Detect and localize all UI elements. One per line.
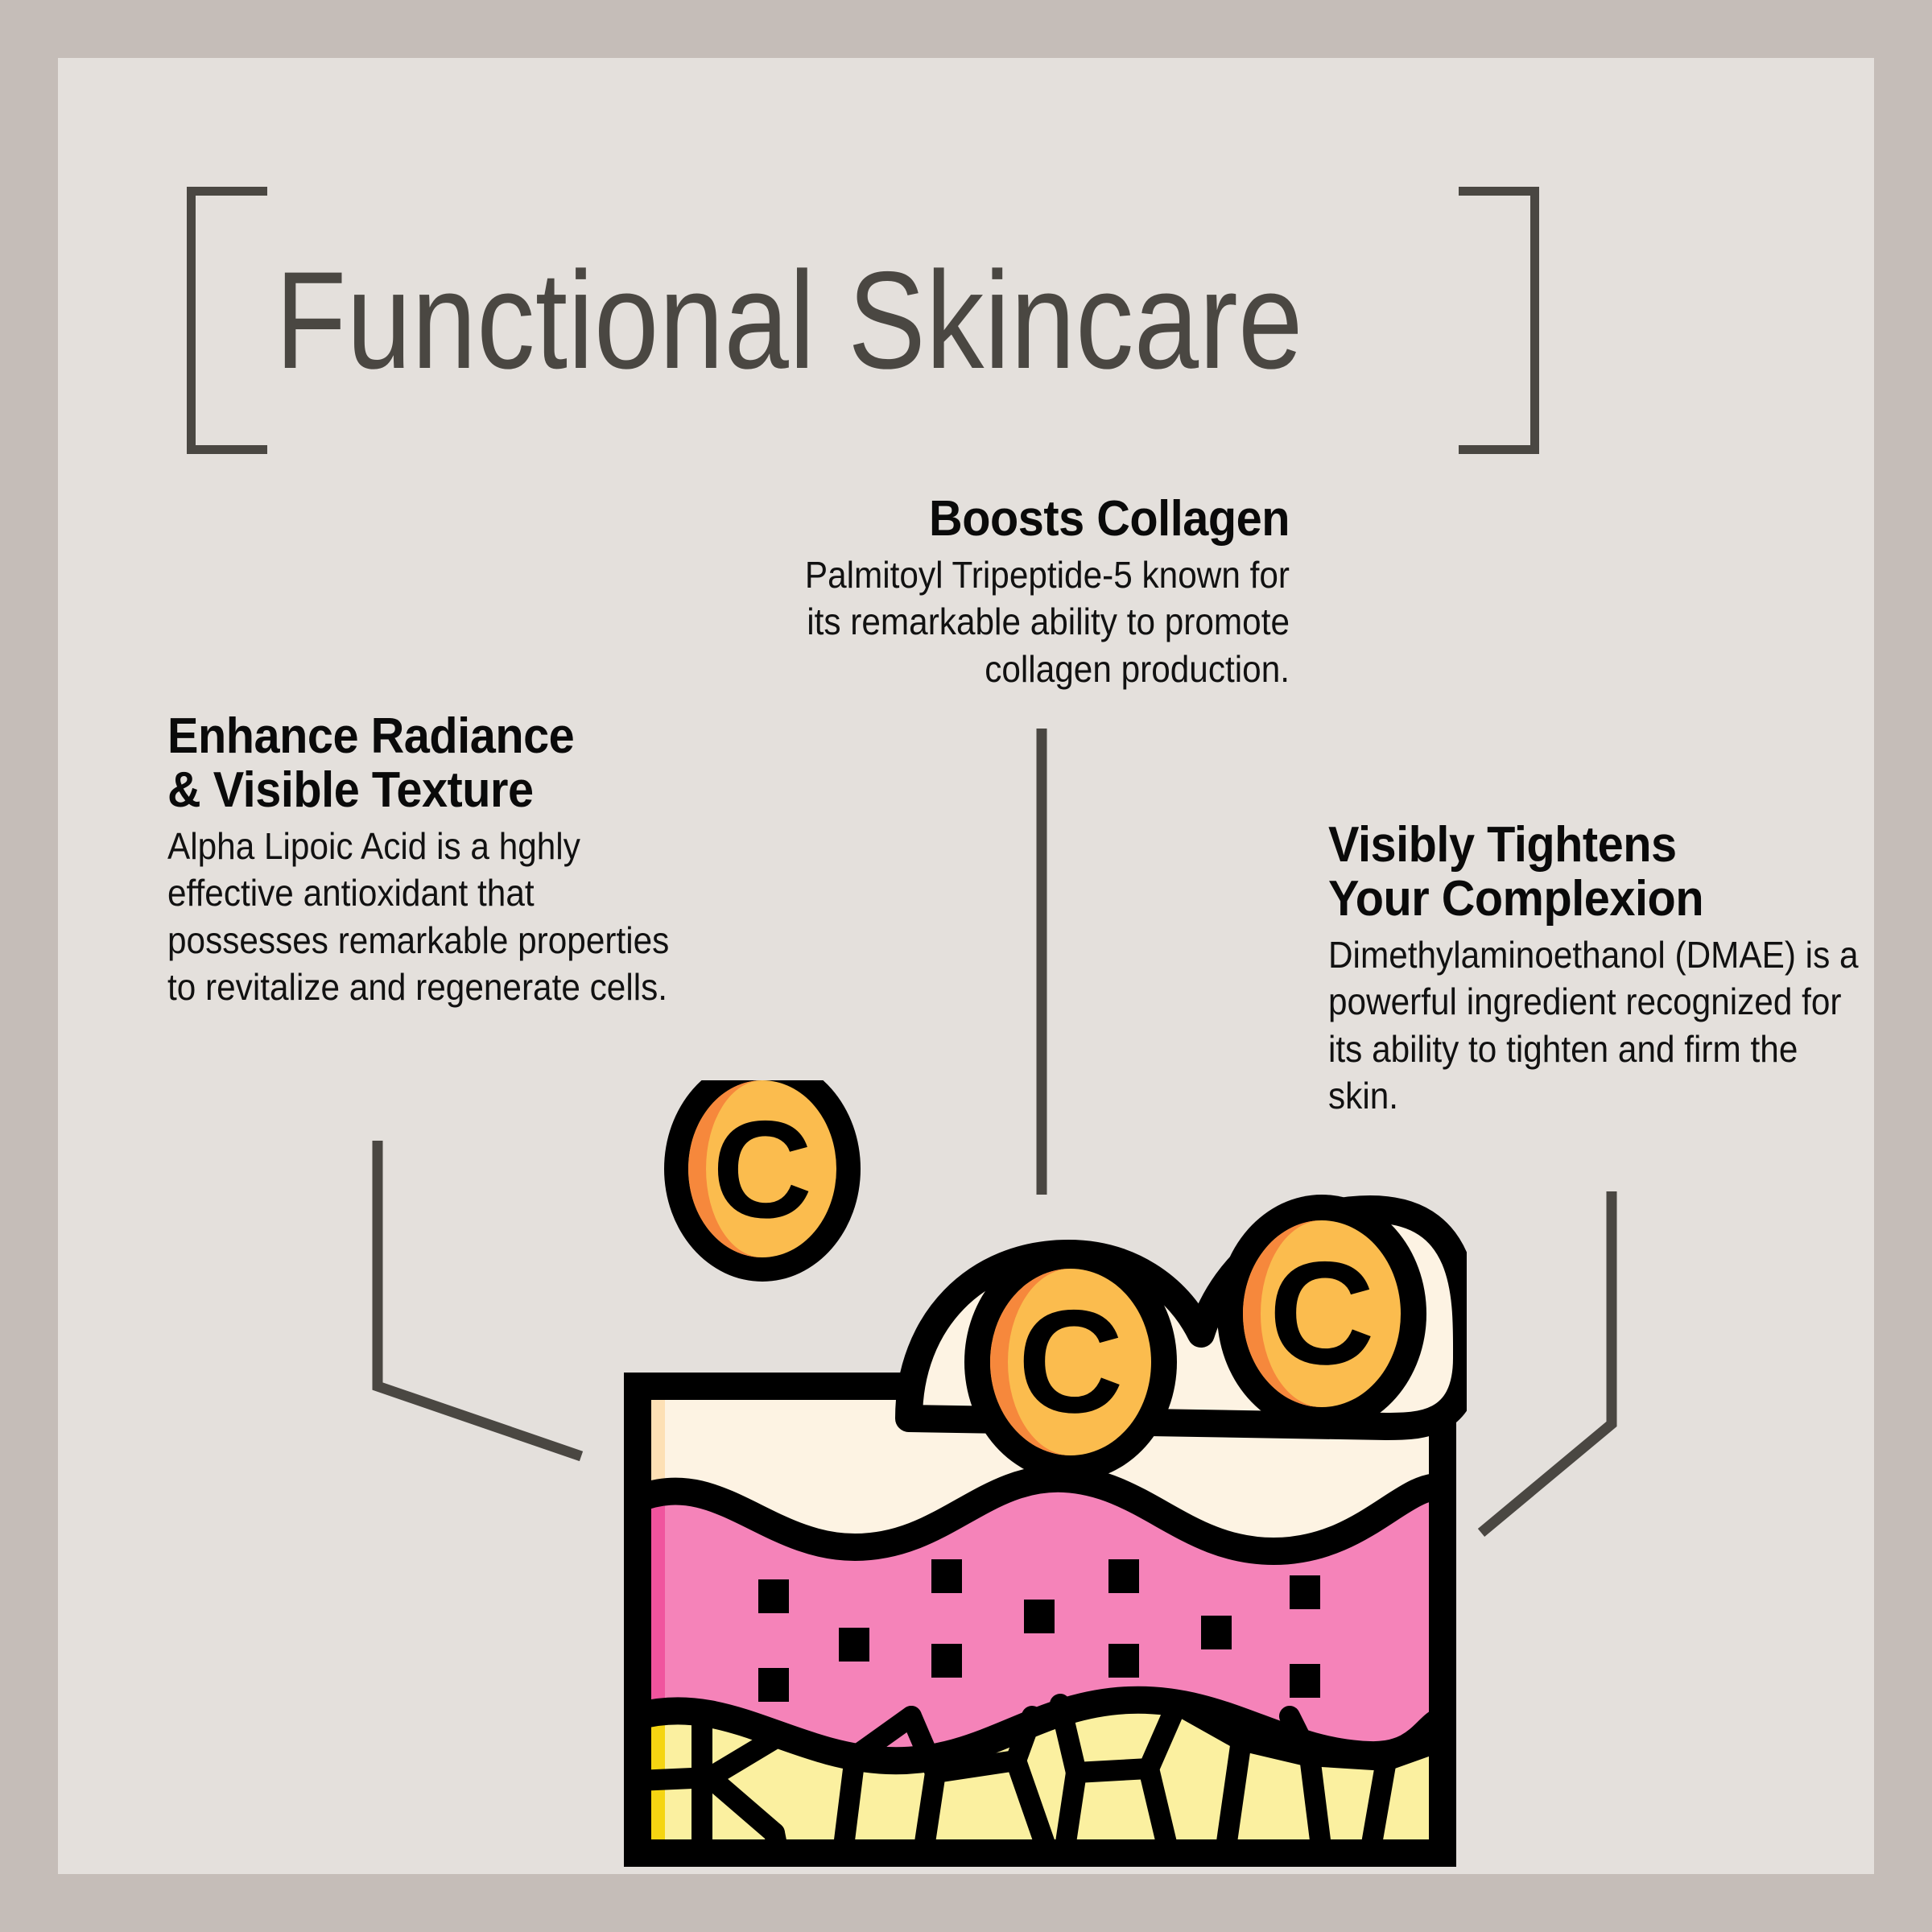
vitamin-c-molecule-floating: C: [664, 1080, 861, 1282]
vitamin-c-molecule-center: C: [964, 1243, 1177, 1481]
connector-line-radiance: [378, 1141, 581, 1456]
callout-heading: Visibly TightensYour Complexion: [1328, 819, 1868, 927]
callout-enhance-radiance: Enhance Radiance& Visible Texture Alpha …: [167, 710, 747, 1011]
callout-heading: Enhance Radiance& Visible Texture: [167, 710, 707, 818]
title-area: Functional Skincare: [187, 187, 1539, 454]
callout-boosts-collagen: Boosts Collagen Palmitoyl Tripeptide-5 k…: [726, 493, 1290, 692]
skin-cross-section-illustration: C C C: [613, 1080, 1467, 1877]
vitamin-c-molecule-right: C: [1217, 1195, 1426, 1433]
callout-heading-line2: & Visible Texture: [167, 762, 534, 818]
callout-body: Alpha Lipoic Acid is a hghly effective a…: [167, 823, 700, 1011]
vitamin-c-label: C: [712, 1092, 812, 1247]
vitamin-c-label: C: [1018, 1279, 1123, 1443]
callout-heading: Boosts Collagen: [766, 493, 1290, 547]
bracket-right-icon: [1459, 187, 1539, 454]
content-panel: Functional Skincare Boosts Collagen Palm…: [58, 58, 1874, 1874]
infographic-page: Functional Skincare Boosts Collagen Palm…: [0, 0, 1932, 1932]
callout-body: Palmitoyl Tripeptide-5 known for its rem…: [771, 551, 1290, 692]
callout-heading-line1: Enhance Radiance: [167, 708, 574, 764]
connector-line-tightens: [1481, 1191, 1612, 1533]
callout-heading-line1: Visibly Tightens: [1328, 817, 1677, 873]
page-title: Functional Skincare: [275, 187, 1262, 454]
callout-visibly-tightens: Visibly TightensYour Complexion Dimethyl…: [1328, 819, 1908, 1120]
callout-heading-line2: Your Complexion: [1328, 871, 1703, 927]
bracket-left-icon: [187, 187, 267, 454]
vitamin-c-label: C: [1269, 1231, 1374, 1395]
